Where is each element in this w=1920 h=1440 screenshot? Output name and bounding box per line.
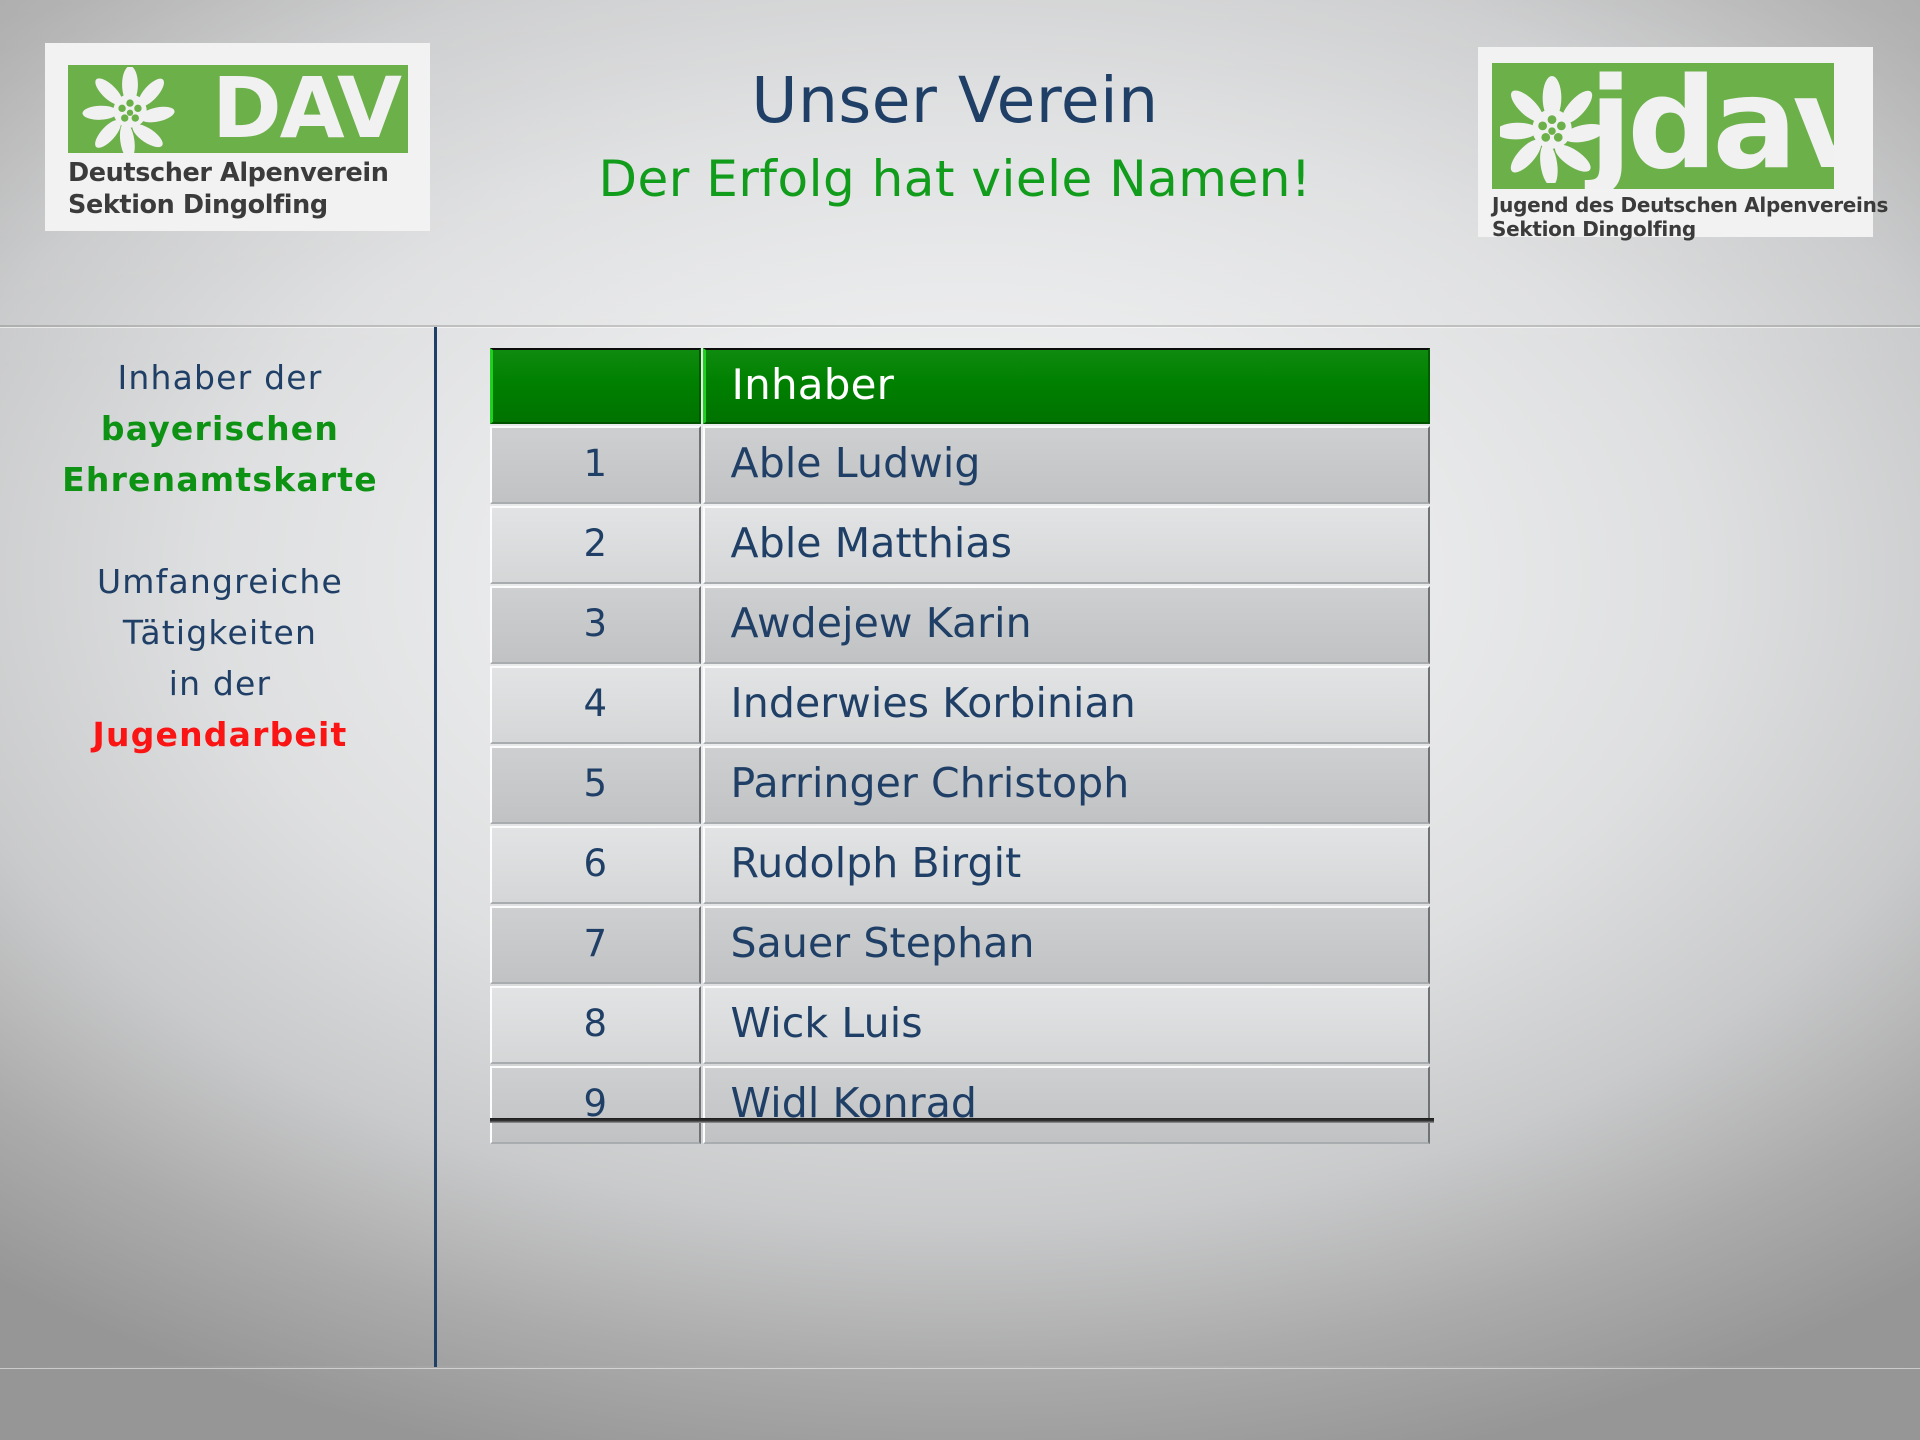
jdav-caption-line2: Sektion Dingolfing — [1492, 217, 1888, 241]
table-row[interactable]: 3 Awdejew Karin — [490, 586, 1430, 664]
row-name: Awdejew Karin — [703, 586, 1430, 664]
table-header-index — [490, 348, 701, 424]
table-row[interactable]: 2 Able Matthias — [490, 506, 1430, 584]
dav-logo-caption: Deutscher Alpenverein Sektion Dingolfing — [68, 157, 388, 221]
row-name: Able Matthias — [703, 506, 1430, 584]
jdav-caption-line1: Jugend des Deutschen Alpenvereins — [1492, 193, 1888, 217]
jdav-logo: jdav Jugend des Deutschen Alpenvereins S… — [1478, 47, 1873, 237]
dav-caption-line1: Deutscher Alpenverein — [68, 157, 388, 189]
table-row[interactable]: 8 Wick Luis — [490, 986, 1430, 1064]
table-row[interactable]: 6 Rudolph Birgit — [490, 826, 1430, 904]
row-index: 5 — [490, 746, 701, 824]
sidebar-line-1: Inhaber der — [20, 352, 420, 403]
edelweiss-icon — [82, 67, 178, 153]
table-row[interactable]: 7 Sauer Stephan — [490, 906, 1430, 984]
table-row[interactable]: 1 Able Ludwig — [490, 426, 1430, 504]
page-title: Unser Verein — [430, 63, 1480, 139]
row-index: 6 — [490, 826, 701, 904]
row-index: 3 — [490, 586, 701, 664]
dav-caption-line2: Sektion Dingolfing — [68, 189, 388, 221]
slide-canvas: DAV Deutscher Alpenverein Sektion Dingol… — [0, 0, 1920, 1440]
row-name: Sauer Stephan — [703, 906, 1430, 984]
table-row[interactable]: 5 Parringer Christoph — [490, 746, 1430, 824]
row-index: 4 — [490, 666, 701, 744]
row-index: 7 — [490, 906, 701, 984]
table-bottom-edge — [490, 1118, 1434, 1123]
footer-divider — [0, 1366, 1920, 1368]
row-name: Rudolph Birgit — [703, 826, 1430, 904]
dav-logo-greenbar: DAV — [68, 65, 408, 153]
sidebar-line-5: Tätigkeiten — [20, 607, 420, 658]
sidebar-line-3: Ehrenamtskarte — [20, 454, 420, 505]
row-name: Wick Luis — [703, 986, 1430, 1064]
row-index: 2 — [490, 506, 701, 584]
header-divider — [0, 325, 1920, 327]
jdav-wordmark: jdav — [1589, 63, 1834, 189]
row-name: Parringer Christoph — [703, 746, 1430, 824]
table-row[interactable]: 9 Widl Konrad — [490, 1066, 1430, 1144]
column-divider — [434, 327, 437, 1367]
row-index: 8 — [490, 986, 701, 1064]
jdav-logo-greenbar: jdav — [1492, 63, 1834, 189]
sidebar-line-7: Jugendarbeit — [20, 709, 420, 760]
sidebar-line-6: in der — [20, 658, 420, 709]
dav-wordmark: DAV — [212, 65, 400, 153]
sidebar-annotations: Inhaber der bayerischen Ehrenamtskarte U… — [20, 352, 420, 760]
table-row[interactable]: 4 Inderwies Korbinian — [490, 666, 1430, 744]
table-header-row: Inhaber — [490, 348, 1430, 424]
row-index: 9 — [490, 1066, 701, 1144]
sidebar-line-4: Umfangreiche — [20, 556, 420, 607]
row-name: Able Ludwig — [703, 426, 1430, 504]
jdav-logo-caption: Jugend des Deutschen Alpenvereins Sektio… — [1492, 193, 1888, 241]
row-index: 1 — [490, 426, 701, 504]
table-header-name: Inhaber — [703, 348, 1430, 424]
sidebar-line-2: bayerischen — [20, 403, 420, 454]
row-name: Widl Konrad — [703, 1066, 1430, 1144]
dav-logo: DAV Deutscher Alpenverein Sektion Dingol… — [45, 43, 430, 231]
page-subtitle: Der Erfolg hat viele Namen! — [430, 148, 1480, 210]
sidebar-gap — [20, 505, 420, 556]
row-name: Inderwies Korbinian — [703, 666, 1430, 744]
inhaber-table: Inhaber 1 Able Ludwig 2 Able Matthias 3 … — [490, 348, 1430, 1146]
